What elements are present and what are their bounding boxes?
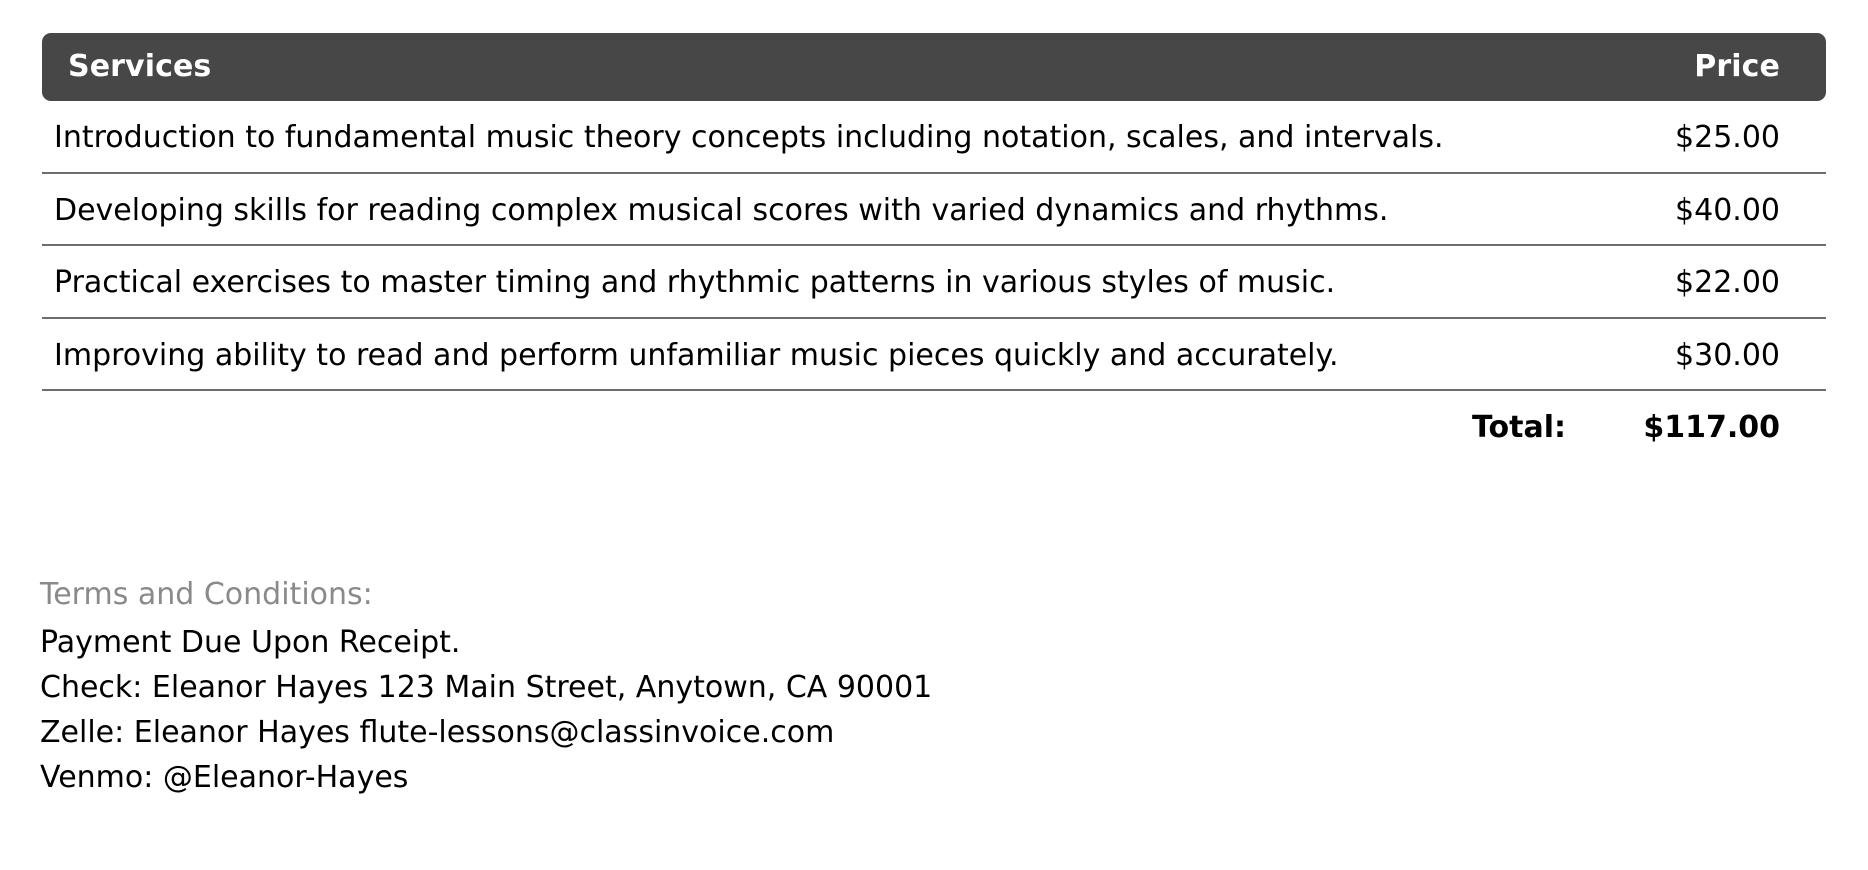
column-header-services: Services [68,52,211,82]
terms-line-zelle: Zelle: Eleanor Hayes flute-lessons@class… [40,718,1740,748]
table-header-row: Services Price [42,33,1826,101]
invoice-page: Services Price Introduction to fundament… [0,0,1868,870]
column-header-price: Price [1694,52,1780,82]
service-price: $30.00 [1640,339,1780,373]
table-row: Developing skills for reading complex mu… [42,174,1826,247]
table-row: Improving ability to read and perform un… [42,319,1826,392]
service-description: Developing skills for reading complex mu… [54,194,1640,228]
service-price: $22.00 [1640,266,1780,300]
table-row: Practical exercises to master timing and… [42,246,1826,319]
table-body: Introduction to fundamental music theory… [42,101,1826,391]
service-description: Practical exercises to master timing and… [54,266,1640,300]
total-row: Total: $117.00 [42,391,1826,445]
terms-title: Terms and Conditions: [40,578,1740,611]
service-description: Improving ability to read and perform un… [54,339,1640,373]
total-value: $117.00 [1640,410,1780,445]
terms-line-check: Check: Eleanor Hayes 123 Main Street, An… [40,673,1740,703]
service-description: Introduction to fundamental music theory… [54,121,1640,155]
terms-and-conditions-section: Terms and Conditions: Payment Due Upon R… [40,578,1740,793]
service-price: $40.00 [1640,194,1780,228]
table-row: Introduction to fundamental music theory… [42,101,1826,174]
services-table: Services Price Introduction to fundament… [42,33,1826,445]
terms-line-venmo: Venmo: @Eleanor-Hayes [40,763,1740,793]
terms-line-payment: Payment Due Upon Receipt. [40,628,1740,658]
service-price: $25.00 [1640,121,1780,155]
total-label: Total: [1472,410,1566,445]
